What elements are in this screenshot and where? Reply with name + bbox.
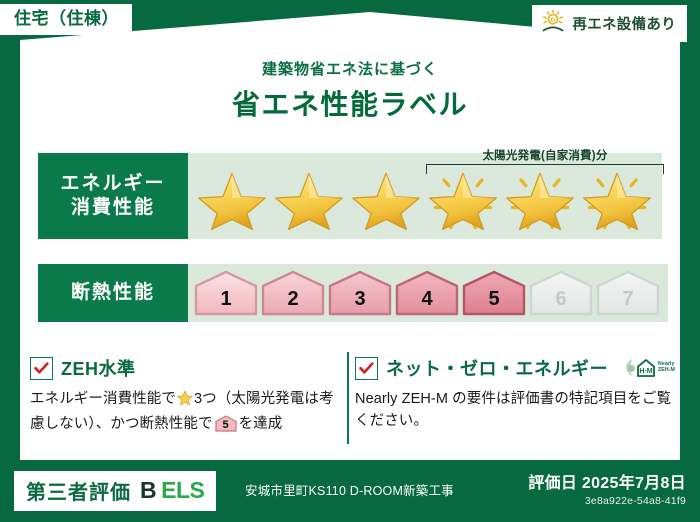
insulation-level-badge: 3 <box>328 270 392 316</box>
check-icon <box>359 362 374 375</box>
nze-check-title: ネット・ゼロ・エネルギー <box>386 355 608 381</box>
zeh-check-heading: ZEH水準 <box>30 355 340 381</box>
energy-performance-label: 住宅（住棟） Ð 再エネ設備あり 建築物省エネ法に基づ <box>0 0 700 522</box>
zeh-check-title: ZEH水準 <box>61 355 136 381</box>
label-uid: 3e8a922e-54a8-41f9 <box>528 495 686 507</box>
checkbox-net-zero-energy[interactable] <box>355 357 378 380</box>
check-block-zeh-suijun: ZEH水準 エネルギー消費性能で3つ（太陽光発電は考慮しない）、かつ断熱性能で5… <box>30 355 340 435</box>
title-block: 建築物省エネ法に基づく 省エネ性能ラベル <box>0 58 700 123</box>
footer-bar: 第三者評価 B ELS 安城市里町KS110 D-ROOM新築工事 評価日 20… <box>0 460 700 522</box>
insulation-performance-row: 断熱性能 1 <box>38 264 668 322</box>
insulation-level-scale: 1 2 3 <box>194 270 660 316</box>
insulation-level-badge: 2 <box>261 270 325 316</box>
project-name: 安城市里町KS110 D-ROOM新築工事 <box>245 480 454 499</box>
insulation-level-badge: 7 <box>596 270 660 316</box>
house-badge-inline: 5 <box>215 415 237 432</box>
insulation-level-badge: 1 <box>194 270 258 316</box>
insulation-level-badge: 6 <box>529 270 593 316</box>
energy-performance-stars-area: 太陽光発電(自家消費)分 <box>188 153 662 239</box>
check-icon <box>34 362 49 375</box>
insulation-level-number: 5 <box>488 288 499 311</box>
insulation-performance-caption: 断熱性能 <box>38 264 188 322</box>
insulation-level-badge: 4 <box>395 270 459 316</box>
label-subtitle: 建築物省エネ法に基づく <box>0 58 700 79</box>
building-type-tag: 住宅（住棟） <box>0 4 132 35</box>
bels-letters-els: ELS <box>161 477 204 504</box>
energy-performance-row: エネルギー 消費性能 太陽光発電(自家消費)分 <box>38 153 662 239</box>
renewable-equipment-badge: Ð 再エネ設備あり <box>532 5 687 42</box>
page-title: 省エネ性能ラベル <box>0 83 700 123</box>
evaluation-date: 評価日 2025年7月8日 <box>528 469 686 493</box>
svg-text:H·M: H·M <box>639 368 652 375</box>
energy-performance-caption: エネルギー 消費性能 <box>38 153 188 239</box>
insulation-level-number: 6 <box>555 288 566 311</box>
renewable-badge-label: 再エネ設備あり <box>572 13 676 34</box>
energy-caption-line2: 消費性能 <box>71 196 155 220</box>
bels-jp-label: 第三者評価 <box>26 476 131 505</box>
check-column-divider <box>347 352 349 444</box>
energy-caption-line1: エネルギー <box>60 172 165 196</box>
zeh-check-body: エネルギー消費性能で3つ（太陽光発電は考慮しない）、かつ断熱性能で5を達成 <box>30 388 340 435</box>
insulation-level-number: 3 <box>354 288 365 311</box>
zehm-logo-text: Nearly ZEH-M <box>658 362 675 374</box>
insulation-level-number: 1 <box>220 288 231 311</box>
inline-house-number: 5 <box>215 417 237 434</box>
zeh-body-part3: を達成 <box>239 416 283 432</box>
svg-text:Ð: Ð <box>551 17 556 24</box>
footer-right: 評価日 2025年7月8日 3e8a922e-54a8-41f9 <box>528 469 686 507</box>
solar-annotation-label: 太陽光発電(自家消費)分 <box>426 147 664 163</box>
insulation-level-badge: 5 <box>462 270 526 316</box>
solar-contribution-annotation: 太陽光発電(自家消費)分 <box>426 147 664 174</box>
insulation-caption-label: 断熱性能 <box>71 281 155 305</box>
star-icon <box>177 390 193 413</box>
check-block-net-zero-energy: ネット・ゼロ・エネルギー H·M Nearly ZEH-M Nearly ZEH… <box>355 355 675 432</box>
star-icon <box>348 163 424 235</box>
zehm-house-icon: H·M <box>622 356 656 380</box>
zeh-body-part1: エネルギー消費性能で <box>30 391 176 407</box>
solar-annotation-bracket <box>426 164 664 174</box>
insulation-level-area: 1 2 3 <box>188 264 668 322</box>
nearly-zehm-logo: H·M Nearly ZEH-M <box>622 356 675 380</box>
zehm-logo-line2: ZEH-M <box>658 367 675 373</box>
building-type-label: 住宅（住棟） <box>14 9 119 28</box>
sun-solar-icon: Ð <box>540 9 566 38</box>
insulation-level-number: 7 <box>622 288 633 311</box>
checkbox-zeh-suijun[interactable] <box>30 357 53 380</box>
star-icon <box>194 163 270 235</box>
nze-check-body: Nearly ZEH-M の要件は評価書の特記項目をご覧ください。 <box>355 388 675 432</box>
bels-logo: 第三者評価 B ELS <box>14 471 216 511</box>
nze-check-heading: ネット・ゼロ・エネルギー H·M Nearly ZEH-M <box>355 355 675 381</box>
star-icon <box>271 163 347 235</box>
insulation-level-number: 4 <box>421 288 432 311</box>
insulation-level-number: 2 <box>287 288 298 311</box>
bels-letter-b: B <box>140 477 156 504</box>
